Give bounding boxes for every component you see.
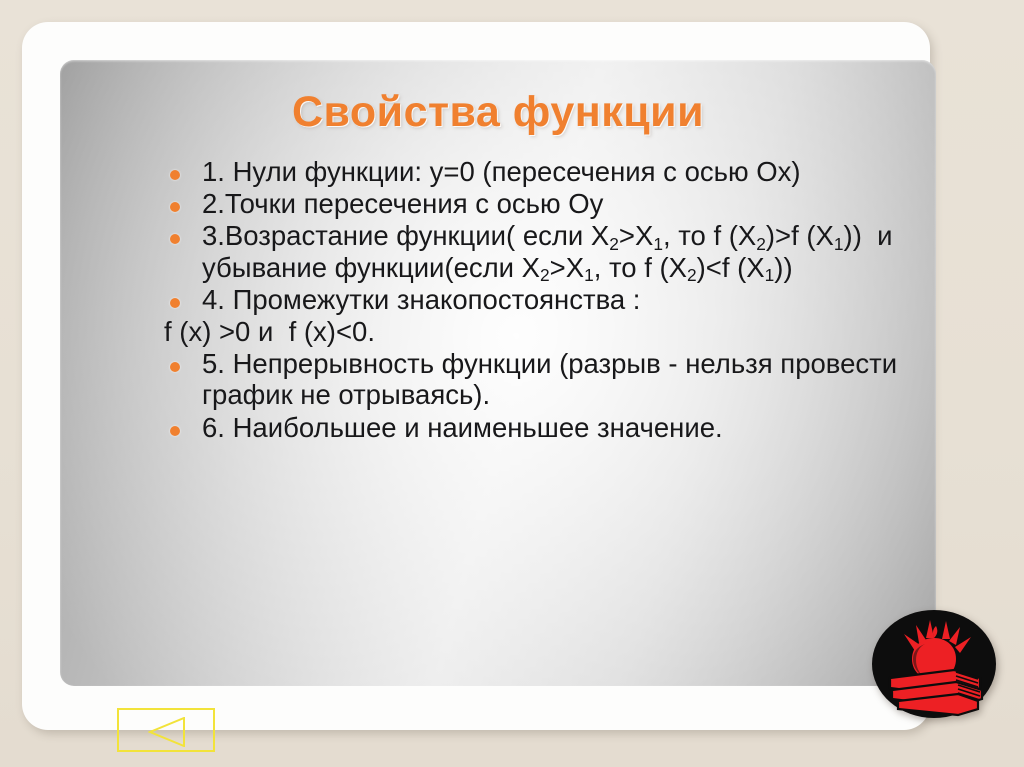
list-item: 1. Нули функции: y=0 (пересечения с осью… xyxy=(164,156,924,187)
triangle-left-icon xyxy=(148,717,188,747)
list-item-label: 4. Промежутки знакопостоянства : xyxy=(202,284,924,315)
bullet-dot-icon xyxy=(170,426,180,436)
page-title: Свойства функции xyxy=(60,88,936,137)
list-item: 5. Непрерывность функции (разрыв - нельз… xyxy=(164,348,924,410)
list-item: 4. Промежутки знакопостоянства : xyxy=(164,284,924,315)
bullet-dot-icon xyxy=(170,202,180,212)
list-item-label: 2.Точки пересечения с осью Oy xyxy=(202,188,924,219)
bullet-list: 1. Нули функции: y=0 (пересечения с осью… xyxy=(164,156,924,444)
list-item: 2.Точки пересечения с осью Oy xyxy=(164,188,924,219)
list-item-label: 3.Возрастание функции( если X2>X1, то f … xyxy=(202,220,924,282)
list-item-label: 6. Наибольшее и наименьшее значение. xyxy=(202,412,924,443)
slide-card: Свойства функции 1. Нули функции: y=0 (п… xyxy=(22,22,930,730)
slide-root: Свойства функции 1. Нули функции: y=0 (п… xyxy=(0,0,1024,767)
slide-content-panel: Свойства функции 1. Нули функции: y=0 (п… xyxy=(60,60,936,686)
apple-on-books-emblem xyxy=(868,608,1000,720)
list-item-label: 1. Нули функции: y=0 (пересечения с осью… xyxy=(202,156,924,187)
bullet-dot-icon xyxy=(170,170,180,180)
bullet-dot-icon xyxy=(170,234,180,244)
list-item-label: 5. Непрерывность функции (разрыв - нельз… xyxy=(202,348,924,410)
list-item: f (x) >0 и f (x)<0. xyxy=(164,316,924,347)
bullet-dot-icon xyxy=(170,298,180,308)
back-navigation-button[interactable] xyxy=(117,708,215,752)
list-item: 6. Наибольшее и наименьшее значение. xyxy=(164,412,924,443)
list-item: 3.Возрастание функции( если X2>X1, то f … xyxy=(164,220,924,282)
bullet-dot-icon xyxy=(170,362,180,372)
list-item-label: f (x) >0 и f (x)<0. xyxy=(164,316,924,347)
